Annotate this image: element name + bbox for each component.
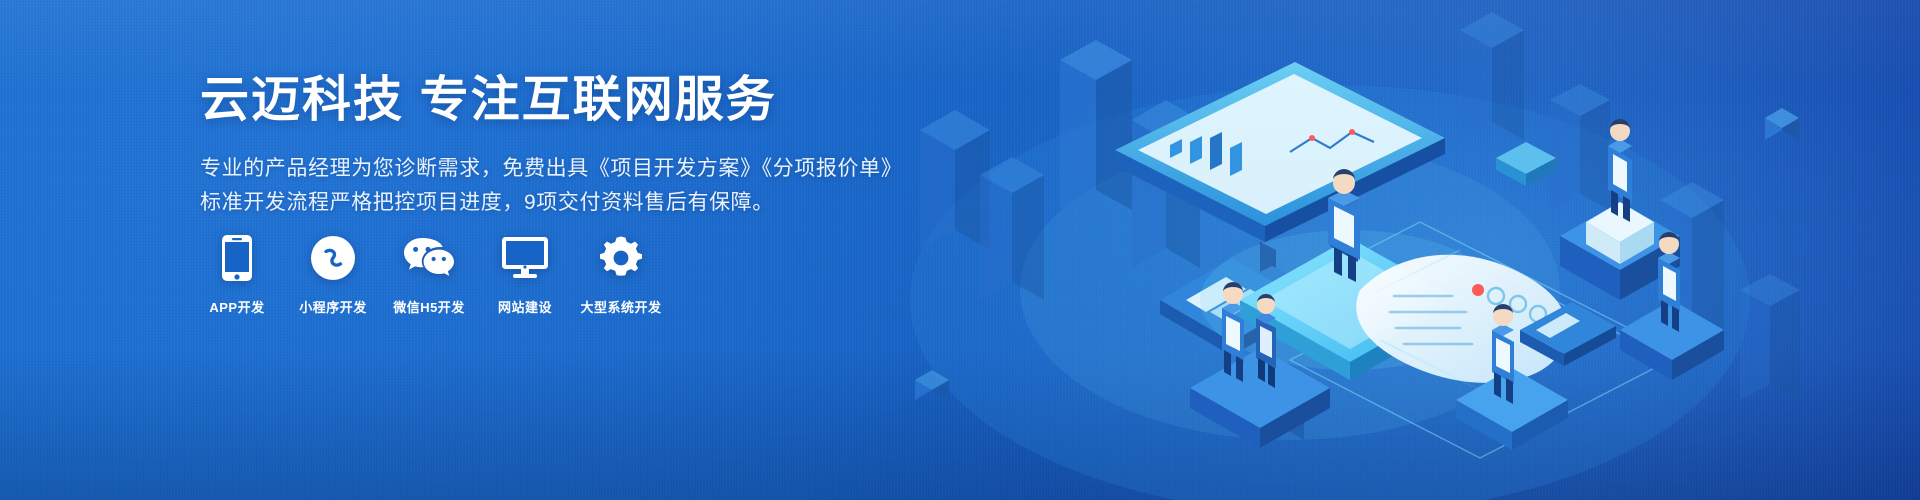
hero-subtitle: 专业的产品经理为您诊断需求，免费出具《项目开发方案》《分项报价单》 标准开发流程… xyxy=(200,152,960,220)
service-label: APP开发 xyxy=(209,297,264,316)
hero-banner: 云迈科技 专注互联网服务 专业的产品经理为您诊断需求，免费出具《项目开发方案》《… xyxy=(0,0,1920,500)
subtitle-line-1: 专业的产品经理为您诊断需求，免费出具《项目开发方案》《分项报价单》 xyxy=(200,152,960,186)
service-item-app[interactable]: APP开发 xyxy=(200,232,274,316)
gear-icon xyxy=(595,232,647,284)
service-label: 网站建设 xyxy=(498,297,552,316)
monitor-icon xyxy=(499,232,551,284)
isometric-tech-illustration xyxy=(860,0,1920,500)
page-title: 云迈科技 专注互联网服务 xyxy=(200,72,960,130)
subtitle-line-2: 标准开发流程严格把控项目进度，9项交付资料售后有保障。 xyxy=(200,186,960,220)
service-item-mini-program[interactable]: 小程序开发 xyxy=(296,232,370,316)
service-label: 小程序开发 xyxy=(299,297,367,316)
hero-copy: 云迈科技 专注互联网服务 专业的产品经理为您诊断需求，免费出具《项目开发方案》《… xyxy=(200,72,960,220)
service-item-wechat-h5[interactable]: 微信H5开发 xyxy=(392,232,466,316)
service-label: 微信H5开发 xyxy=(393,297,465,316)
service-item-large-system[interactable]: 大型系统开发 xyxy=(584,232,658,316)
mini-program-icon xyxy=(307,232,359,284)
service-item-website[interactable]: 网站建设 xyxy=(488,232,562,316)
service-label: 大型系统开发 xyxy=(581,297,662,316)
wechat-icon xyxy=(403,232,455,284)
service-list: APP开发 小程序开发 微信 xyxy=(200,232,658,316)
mobile-phone-icon xyxy=(211,232,263,284)
